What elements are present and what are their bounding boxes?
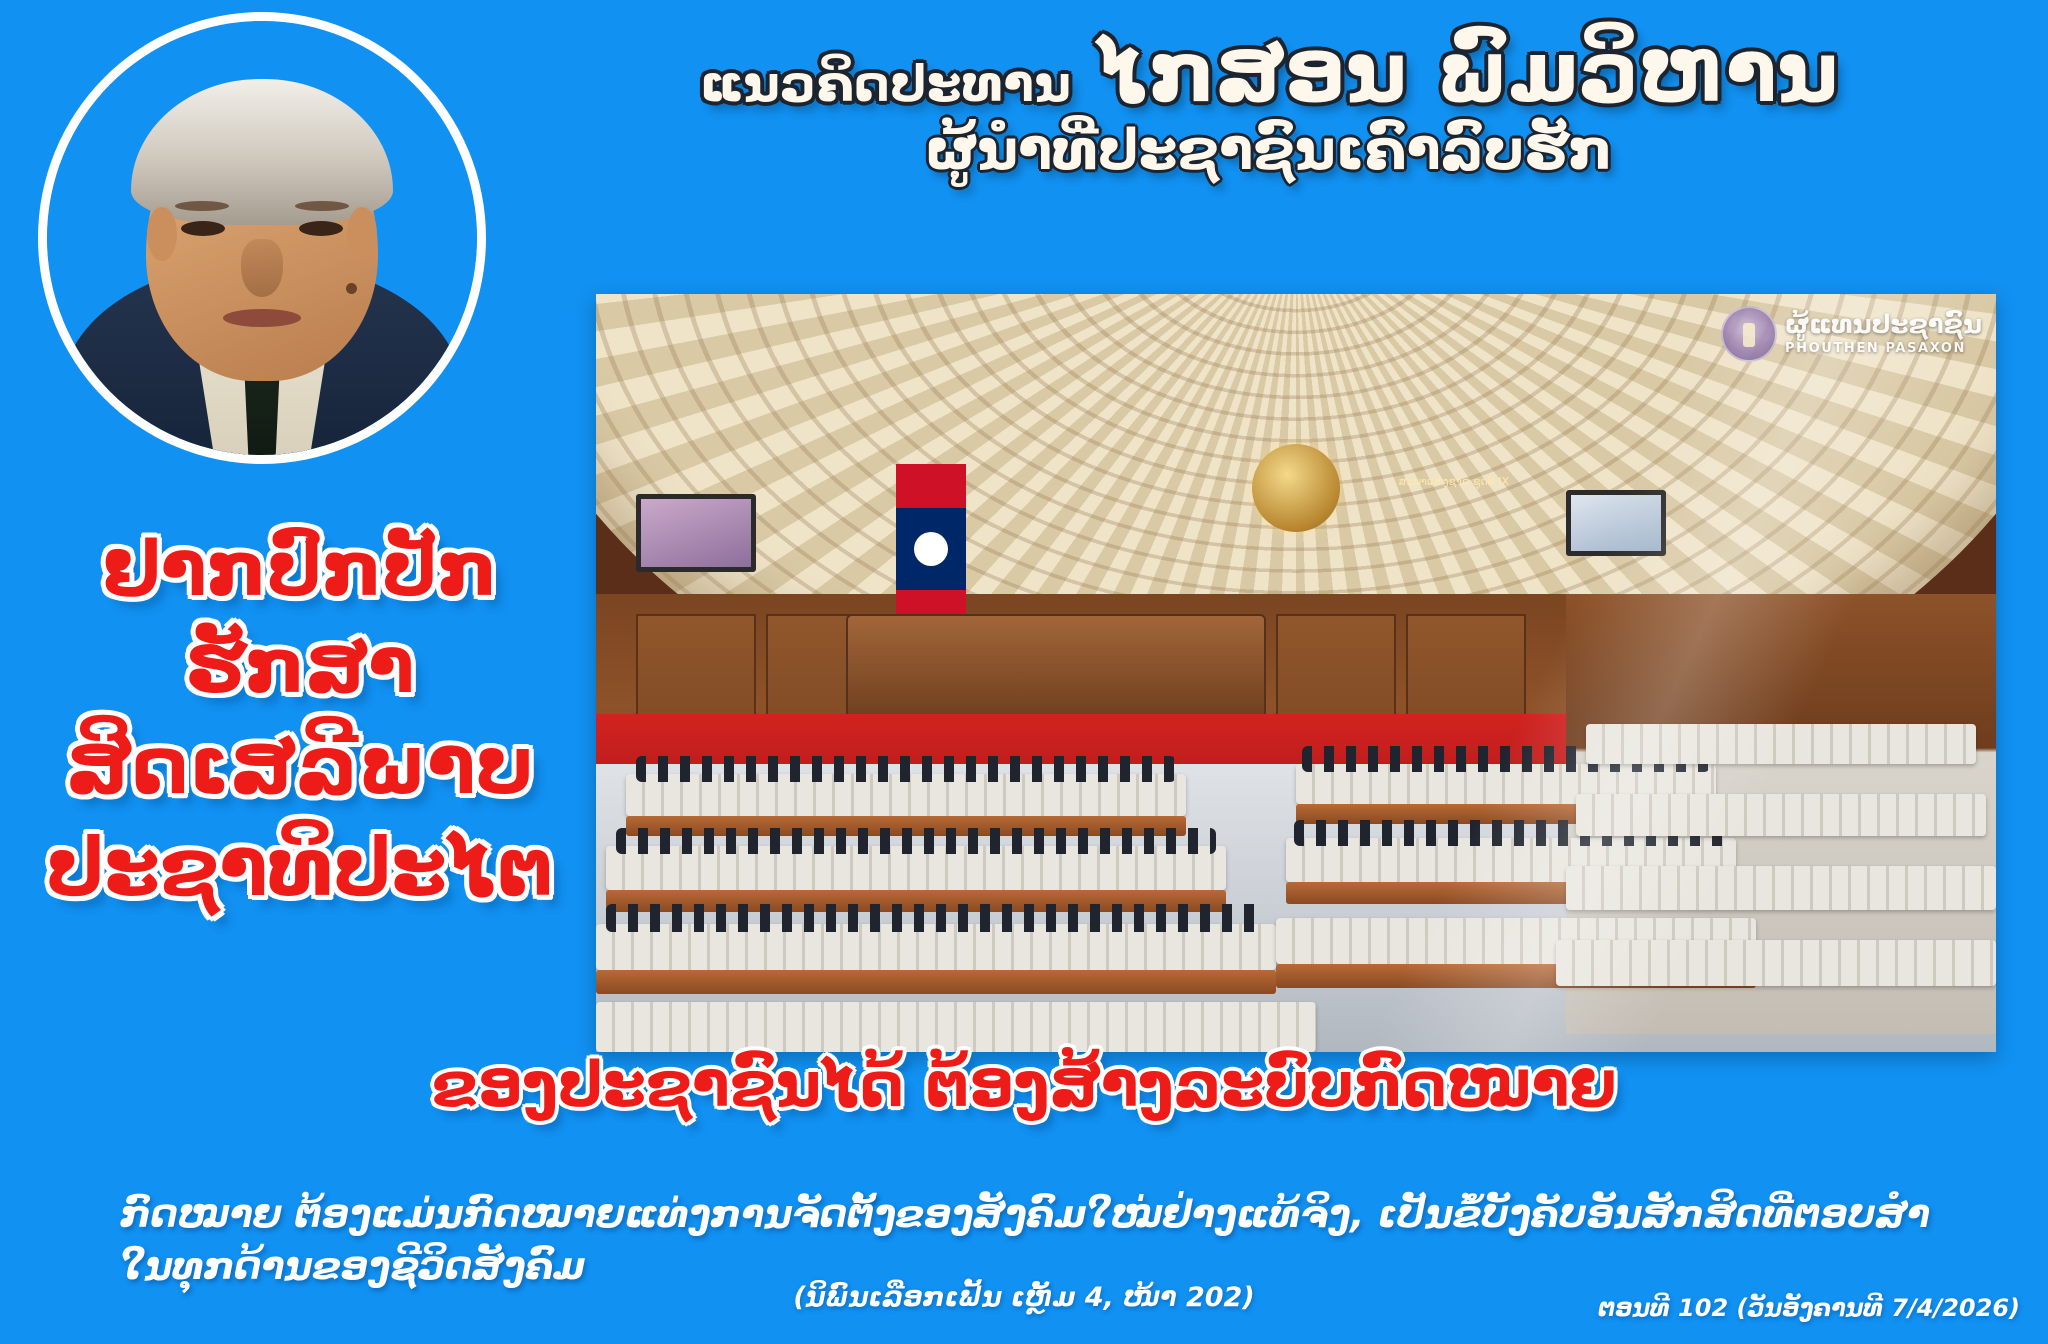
assembly-hall-photo: ສະພາແຫ່ງຊາດ ຊຸດທີ IX — [596, 294, 1996, 1052]
slogan-line-2: ຮັກສາ — [40, 617, 560, 714]
portrait-hair — [131, 79, 393, 225]
delegates-row — [636, 756, 1176, 782]
portrait-brow-left — [175, 201, 229, 211]
slogan-line-4: ປະຊາທິປະໄຕ — [40, 817, 560, 919]
lao-flag — [896, 464, 966, 634]
slogan-line-1: ຢາກປົກປັກ — [40, 520, 560, 617]
header-block: ແນວຄິດປະທານ ໄກສອນ ພົມວິຫານ ຜູ້ນຳທີ່ປະຊາຊ… — [520, 30, 2018, 180]
portrait-ear-left — [147, 207, 177, 261]
display-screen-left — [636, 494, 756, 572]
presidium-podium — [846, 614, 1266, 724]
portrait-mouth — [223, 309, 301, 327]
national-seal-icon — [1721, 306, 1777, 362]
watermark-lao: ຜູ້ແທນປະຊາຊົນ — [1785, 312, 1982, 338]
header-prefix: ແນວຄິດປະທານ — [700, 55, 1072, 113]
episode-label: ຕອນທີ 102 (ວັນອັງຄານທີ 7/4/2026) — [1598, 1294, 2020, 1322]
slogan-block: ຢາກປົກປັກ ຮັກສາ ສິດເສລີພາບ ປະຊາທິປະໄຕ — [40, 520, 560, 919]
header-name: ໄກສອນ ພົມວິຫານ — [1096, 23, 1838, 121]
watermark: ຜູ້ແທນປະຊາຊົນ PHOUTHEN PASAXON — [1721, 306, 1982, 362]
slogan-line-3: ສິດເສລີພາບ — [40, 715, 560, 817]
balcony-seat-row — [1556, 940, 1996, 986]
delegates-row — [606, 904, 1266, 932]
header-title-line: ແນວຄິດປະທານ ໄກສອນ ພົມວິຫານ — [520, 30, 2018, 116]
quote-paragraph: ກົດໝາຍ ຕ້ອງແມ່ນກົດໝາຍແທ່ງການຈັດຕັ້ງຂອງສັ… — [120, 1188, 1988, 1293]
balcony-seat-row — [1586, 724, 1976, 764]
portrait-ear-right — [347, 207, 377, 261]
header-subtitle: ຜູ້ນຳທີ່ປະຊາຊົນເຄົາລົບຮັກ — [520, 122, 2018, 181]
delegates-row — [616, 828, 1216, 854]
balcony-seat-row — [1566, 866, 1996, 910]
seat-row — [596, 1002, 1316, 1052]
poster-root: ແນວຄິດປະທານ ໄກສອນ ພົມວິຫານ ຜູ້ນຳທີ່ປະຊາຊ… — [0, 0, 2048, 1344]
display-screen-right — [1566, 490, 1666, 556]
flag-stripe-top — [896, 464, 966, 508]
podium-banner-text: ສະພາແຫ່ງຊາດ ຊຸດທີ IX — [1324, 474, 1584, 564]
portrait-nose — [241, 239, 283, 297]
flag-disc — [914, 532, 948, 566]
watermark-english: PHOUTHEN PASAXON — [1785, 341, 1982, 356]
portrait-eye-right — [299, 221, 343, 236]
photo-caption-banner: ຂອງປະຊາຊົນໄດ້ ຕ້ອງສ້າງລະບົບກົດໝາຍ — [0, 1048, 2048, 1121]
quote-line-1: ກົດໝາຍ ຕ້ອງແມ່ນກົດໝາຍແທ່ງການຈັດຕັ້ງຂອງສັ… — [120, 1192, 1930, 1236]
balcony-seat-row — [1576, 794, 1986, 836]
desk-row — [596, 970, 1276, 994]
portrait-eye-left — [181, 221, 225, 236]
watermark-text: ຜູ້ແທນປະຊາຊົນ PHOUTHEN PASAXON — [1785, 312, 1982, 356]
portrait-brow-right — [295, 201, 349, 211]
portrait-avatar — [38, 12, 486, 464]
portrait-mole — [346, 283, 357, 294]
portrait-image — [47, 21, 477, 455]
